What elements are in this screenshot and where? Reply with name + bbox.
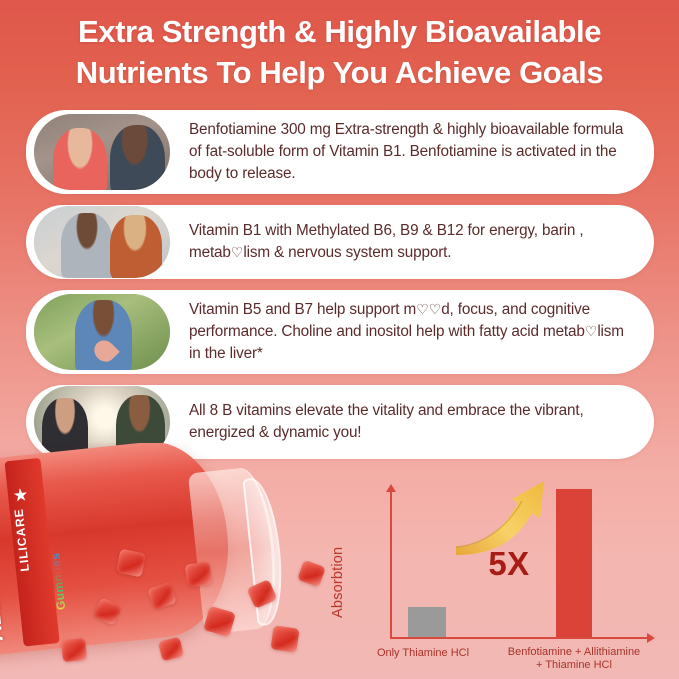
gummy-cube [61, 638, 87, 662]
product-name-line-3: ALLITHIAMINE [0, 487, 8, 643]
woman-heart-hands-photo [34, 294, 170, 370]
feature-card-b5-b7-mood: Vitamin B5 and B7 help support m♡♡d, foc… [26, 290, 654, 374]
chart-category-label-2: Benfotiamine + Allithiamine + Thiamine H… [478, 646, 670, 674]
feature-card-list: Benfotiamine 300 mg Extra-strength & hig… [26, 110, 654, 470]
multiplier-label: 5X [464, 545, 554, 583]
chart-category-label-1: Only Thiamine HCl [358, 647, 488, 661]
gummy-cube [297, 560, 326, 588]
bottle-label: VITAMIN B1 BENFOTIAMINE ALLITHIAMINE LIL… [0, 448, 187, 651]
women-office-photo [34, 206, 170, 278]
absorption-bar-chart: Absorbtion Only Thiamine HCl Benfotiamin… [352, 457, 679, 675]
gummy-cube [116, 549, 146, 578]
feature-text-segment: lism & nervous system support. [243, 244, 451, 261]
growth-arrow-icon [452, 477, 562, 555]
feature-text-segment: Vitamin B5 and B7 help support m [189, 301, 416, 318]
bar-only-thiamine [408, 607, 446, 637]
feature-card-benfotiamine: Benfotiamine 300 mg Extra-strength & hig… [26, 110, 654, 194]
chart-x-axis [390, 637, 648, 639]
page-title: Extra Strength & Highly Bioavailable Nut… [0, 12, 679, 94]
gummy-cube [158, 637, 184, 662]
heart-icon: ♡ [231, 244, 244, 260]
gummy-cube [185, 561, 213, 587]
headline-line-2: Nutrients To Help You Achieve Goals [0, 53, 679, 94]
feature-card-text: Vitamin B5 and B7 help support m♡♡d, foc… [170, 299, 632, 364]
feature-card-methylated-b-vitamins: Vitamin B1 with Methylated B6, B9 & B12 … [26, 205, 654, 279]
gummy-cube [270, 625, 299, 652]
heart-icon: ♡ [429, 301, 442, 317]
product-bottle-photo: VITAMIN B1 BENFOTIAMINE ALLITHIAMINE LIL… [0, 443, 352, 679]
women-laughing-gym-photo [34, 114, 170, 190]
feature-card-text: Benfotiamine 300 mg Extra-strength & hig… [170, 119, 632, 184]
heart-icon: ♡ [416, 301, 429, 317]
headline-line-1: Extra Strength & Highly Bioavailable [0, 12, 679, 53]
feature-card-text: Vitamin B1 with Methylated B6, B9 & B12 … [170, 220, 632, 263]
feature-card-text: All 8 B vitamins elevate the vitality an… [170, 400, 632, 443]
heart-icon: ♡ [585, 323, 598, 339]
